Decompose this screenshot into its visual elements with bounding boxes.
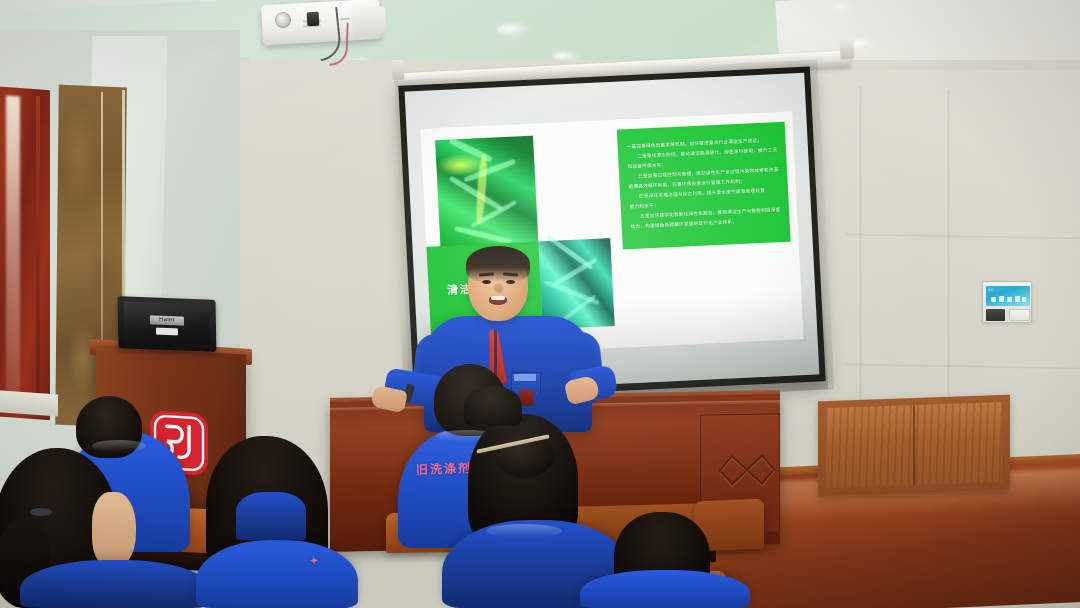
presenter-eye-left bbox=[482, 280, 491, 284]
slide-photo-bamboo bbox=[435, 136, 539, 258]
screen-housing-cap-right bbox=[840, 39, 855, 60]
ac-tick-2 bbox=[999, 296, 1004, 302]
attendee-right-body bbox=[580, 570, 750, 608]
presenter-hair bbox=[466, 246, 530, 282]
monitor-power-button[interactable] bbox=[156, 328, 178, 336]
attendee-frontcenter-hair bbox=[464, 386, 522, 426]
ac-tick-5 bbox=[1022, 297, 1026, 302]
ac-tick-3 bbox=[1007, 297, 1012, 302]
attendee-midleft-back-text: ✦ bbox=[310, 556, 321, 568]
screen-housing-cap-left bbox=[392, 60, 405, 81]
attendee-midleft-body bbox=[196, 540, 358, 608]
presenter-eye-right bbox=[506, 280, 515, 284]
ac-display-label: AC bbox=[988, 288, 994, 292]
projector-rear-body bbox=[351, 6, 387, 38]
desk-diamond-inlay bbox=[716, 447, 778, 492]
window-sill bbox=[0, 390, 58, 417]
window-daylight bbox=[6, 96, 20, 397]
attendee-bun-collar bbox=[486, 524, 562, 538]
presenter-badge bbox=[514, 374, 536, 381]
ac-button-plate[interactable] bbox=[1009, 309, 1030, 321]
conference-room-photo: AC bbox=[0, 0, 1080, 608]
attendee-center-back-text: 旧洗涤剂 bbox=[416, 459, 473, 478]
ac-tick-4 bbox=[1015, 296, 1020, 302]
attendee-left-collar bbox=[92, 440, 146, 452]
ac-control-panel[interactable]: AC bbox=[982, 281, 1032, 323]
attendee-frontleft-hairtie bbox=[30, 508, 52, 516]
slide-text-box: 一是完善绿色低碳发展机制，加快推进重点行业清洁生产改造； 二是强化源头防控，推动… bbox=[617, 122, 791, 250]
ceiling-light-1 bbox=[497, 24, 527, 35]
ceiling-light-5 bbox=[832, 3, 852, 11]
attendee-frontleft-body bbox=[20, 560, 210, 608]
presenter-teeth bbox=[491, 296, 505, 300]
attendee-frontleft-face bbox=[92, 492, 136, 568]
wall-cabinet-door-split bbox=[913, 405, 915, 485]
presenter-nose bbox=[494, 283, 503, 293]
window-mullion bbox=[36, 96, 40, 406]
attendee-faredge-body bbox=[236, 492, 306, 540]
monitor-brand-label: Haier bbox=[150, 315, 184, 325]
ac-tick-1 bbox=[991, 297, 996, 302]
ac-secondary-display bbox=[986, 309, 1005, 321]
